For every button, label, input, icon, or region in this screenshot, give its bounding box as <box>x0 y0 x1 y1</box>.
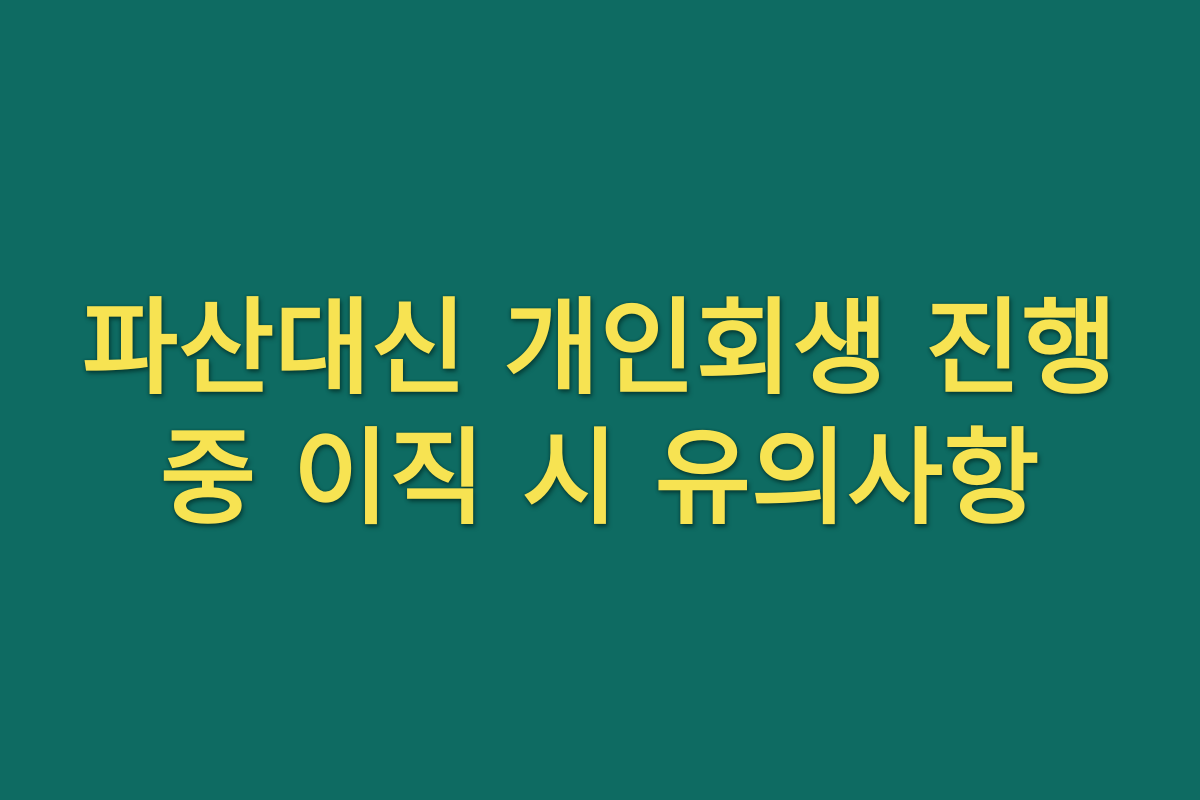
title-line-1: 파산대신 개인회생 진행 <box>0 283 1200 413</box>
banner-canvas: 파산대신 개인회생 진행 중 이직 시 유의사항 <box>0 0 1200 800</box>
title-line-2: 중 이직 시 유의사항 <box>0 413 1200 543</box>
page-title: 파산대신 개인회생 진행 중 이직 시 유의사항 <box>0 283 1200 543</box>
